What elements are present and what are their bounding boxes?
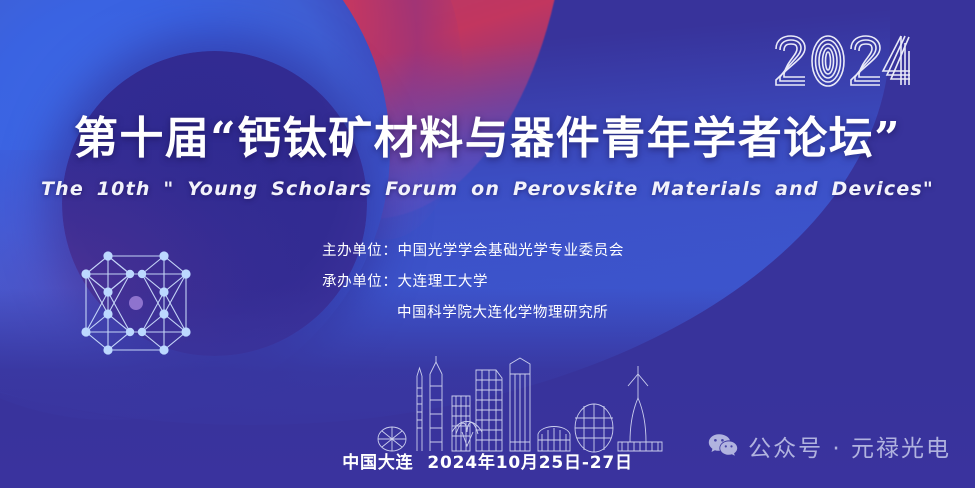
- organizers-block: 主办单位：中国光学学会基础光学专业委员会 承办单位：大连理工大学 中国科学院大连…: [322, 236, 624, 329]
- organizer-value-1: 大连理工大学: [398, 274, 489, 290]
- page-title-cn: 第十届“钙钛矿材料与器件青年学者论坛”: [0, 113, 975, 165]
- dalian-city-skyline-icon: [370, 356, 666, 454]
- page-title-en: The 10th " Young Scholars Forum on Perov…: [0, 178, 975, 200]
- watermark-text: 公众号 · 元禄光电: [748, 429, 951, 463]
- perovskite-crystal-lattice-icon: [78, 248, 206, 368]
- year-2024-mark: [773, 33, 913, 91]
- organizer-row: 中国科学院大连化学物理研究所: [322, 298, 624, 329]
- organizer-label-0: 主办单位：: [322, 243, 398, 259]
- footer-location: 中国大连: [342, 453, 413, 473]
- organizer-label-1: 承办单位：: [322, 274, 398, 290]
- organizer-value-0: 中国光学学会基础光学专业委员会: [398, 243, 625, 259]
- organizer-value-2: 中国科学院大连化学物理研究所: [397, 305, 608, 321]
- organizer-row: 承办单位：大连理工大学: [322, 267, 624, 298]
- footer-dates: 2024年10月25日-27日: [427, 453, 632, 473]
- conference-poster: 第十届“钙钛矿材料与器件青年学者论坛” The 10th " Young Sch…: [0, 0, 975, 488]
- watermark: 公众号 · 元禄光电: [708, 429, 951, 463]
- organizer-row: 主办单位：中国光学学会基础光学专业委员会: [322, 236, 624, 267]
- wechat-icon: [708, 433, 738, 459]
